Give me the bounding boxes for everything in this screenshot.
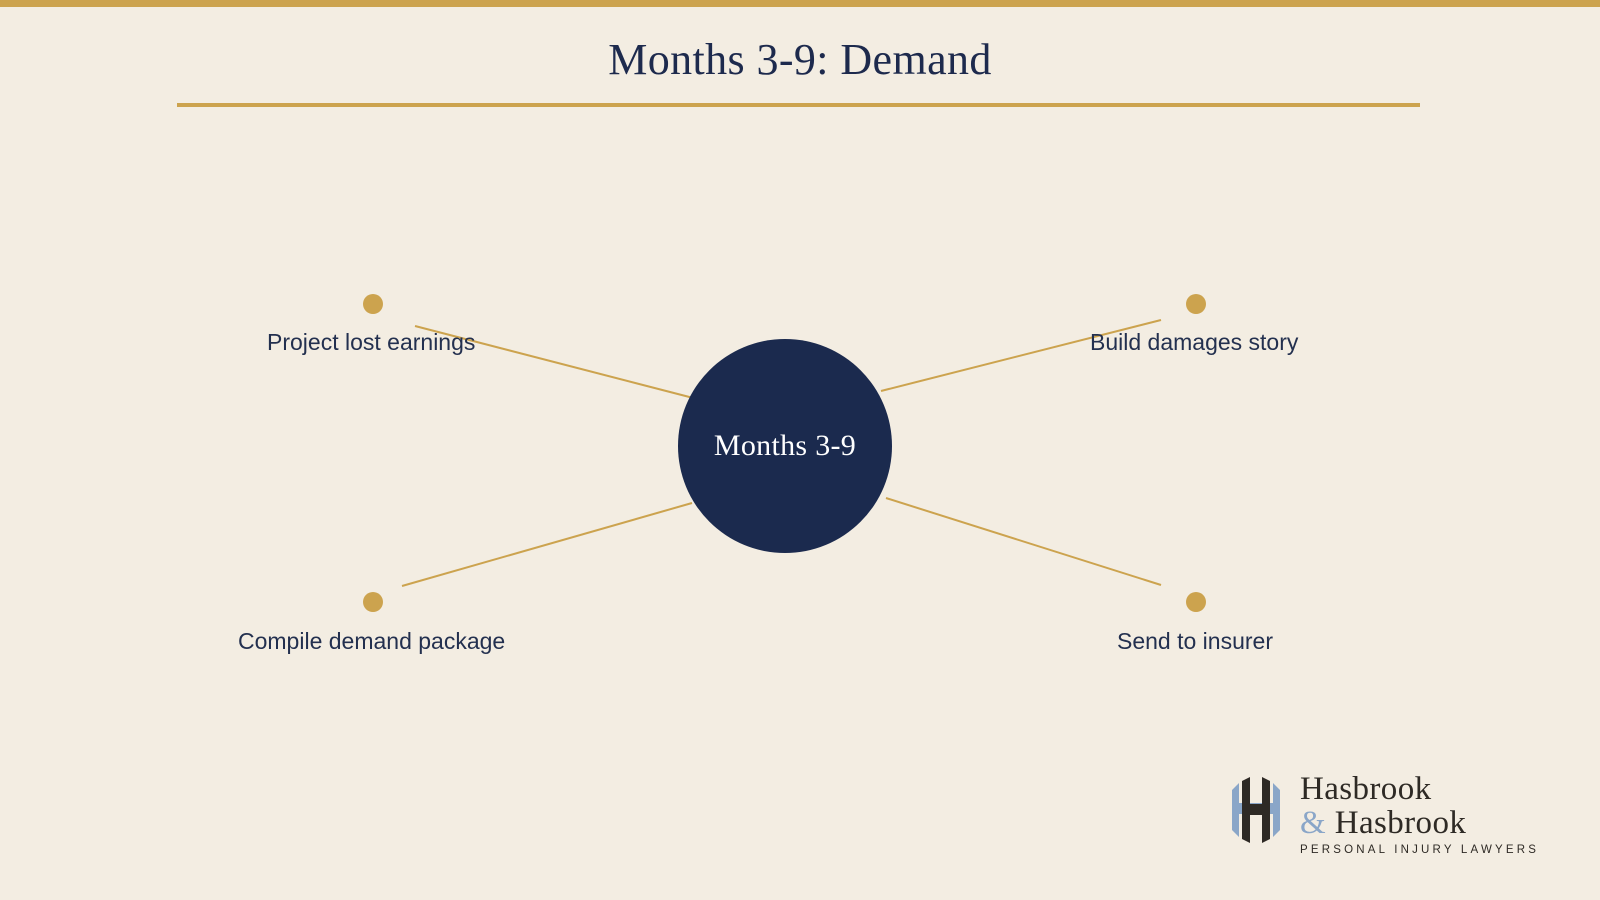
hasbrook-h-mark-icon [1222, 774, 1290, 846]
logo-tagline: PERSONAL INJURY LAWYERS [1300, 844, 1544, 856]
logo-line-2: Hasbrook [1335, 805, 1467, 841]
node-dot-bottom-right [1186, 592, 1206, 612]
node-dot-top-left [363, 294, 383, 314]
logo-line-1: Hasbrook [1300, 772, 1544, 806]
logo-line-2-wrapper: & Hasbrook [1300, 806, 1544, 840]
node-label-bottom-right: Send to insurer [1117, 628, 1273, 655]
logo-wordmark: Hasbrook & Hasbrook PERSONAL INJURY LAWY… [1300, 772, 1544, 856]
slide: Months 3-9: Demand Months 3-9 Project lo… [0, 0, 1600, 900]
hub-and-spoke-diagram: Months 3-9 Project lost earnings Build d… [0, 0, 1600, 900]
logo-ampersand: & [1300, 805, 1326, 841]
hub-label: Months 3-9 [714, 429, 856, 463]
hub-circle: Months 3-9 [678, 339, 892, 553]
node-dot-top-right [1186, 294, 1206, 314]
node-dot-bottom-left [363, 592, 383, 612]
connector-bottom-left [402, 503, 692, 586]
connector-bottom-right [886, 498, 1161, 585]
node-label-top-right: Build damages story [1090, 329, 1298, 356]
node-label-bottom-left: Compile demand package [238, 628, 505, 655]
node-label-top-left: Project lost earnings [267, 329, 475, 356]
company-logo: Hasbrook & Hasbrook PERSONAL INJURY LAWY… [1222, 772, 1542, 864]
